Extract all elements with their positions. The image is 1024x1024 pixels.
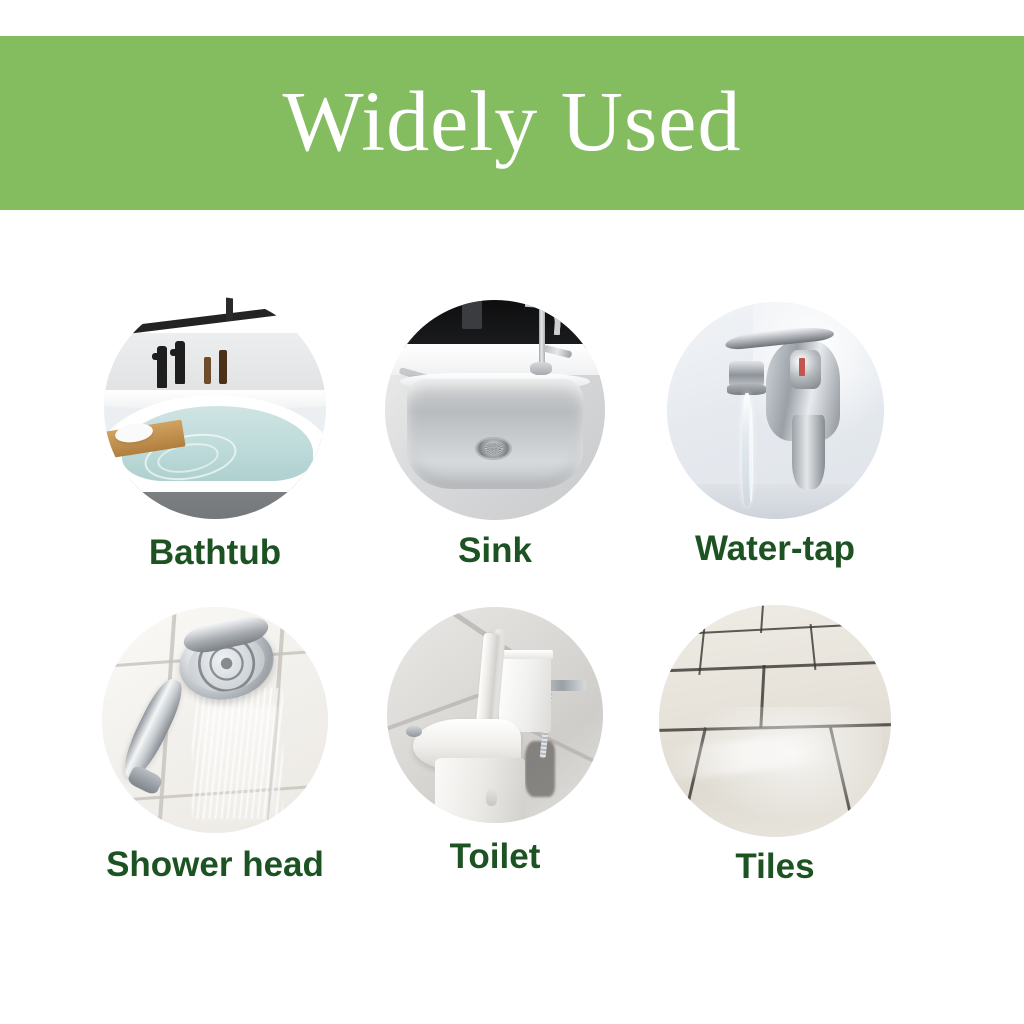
product-label-water-tap: Water-tap [695, 531, 855, 566]
product-label-toilet: Toilet [450, 839, 541, 874]
toilet-thumbnail[interactable] [387, 607, 603, 823]
product-item-bathtub[interactable]: Bathtub [75, 270, 355, 580]
product-label-bathtub: Bathtub [149, 535, 281, 570]
tiles-thumbnail[interactable] [659, 605, 891, 837]
product-item-water-tap[interactable]: Water-tap [635, 270, 915, 580]
bathtub-photo [104, 297, 326, 519]
tiles-photo [659, 605, 891, 837]
product-label-sink: Sink [458, 533, 532, 568]
sink-thumbnail[interactable] [385, 300, 605, 520]
product-grid: Bathtub Sink [0, 270, 1024, 910]
bathtub-thumbnail[interactable] [104, 297, 326, 519]
product-item-tiles[interactable]: Tiles [635, 580, 915, 890]
product-label-shower-head: Shower head [106, 847, 324, 882]
header-banner: Widely Used [0, 36, 1024, 210]
shower-head-thumbnail[interactable] [102, 607, 328, 833]
sink-photo [385, 300, 605, 520]
water-tap-thumbnail[interactable] [667, 302, 884, 519]
product-item-shower-head[interactable]: Shower head [75, 580, 355, 890]
product-item-sink[interactable]: Sink [355, 270, 635, 580]
page-title: Widely Used [283, 78, 742, 164]
water-tap-photo [667, 302, 884, 519]
product-row-2: Shower head [0, 580, 1024, 890]
product-row-1: Bathtub Sink [0, 270, 1024, 580]
shower-head-photo [102, 607, 328, 833]
toilet-photo [387, 607, 603, 823]
product-item-toilet[interactable]: Toilet [355, 580, 635, 890]
product-label-tiles: Tiles [735, 849, 814, 884]
